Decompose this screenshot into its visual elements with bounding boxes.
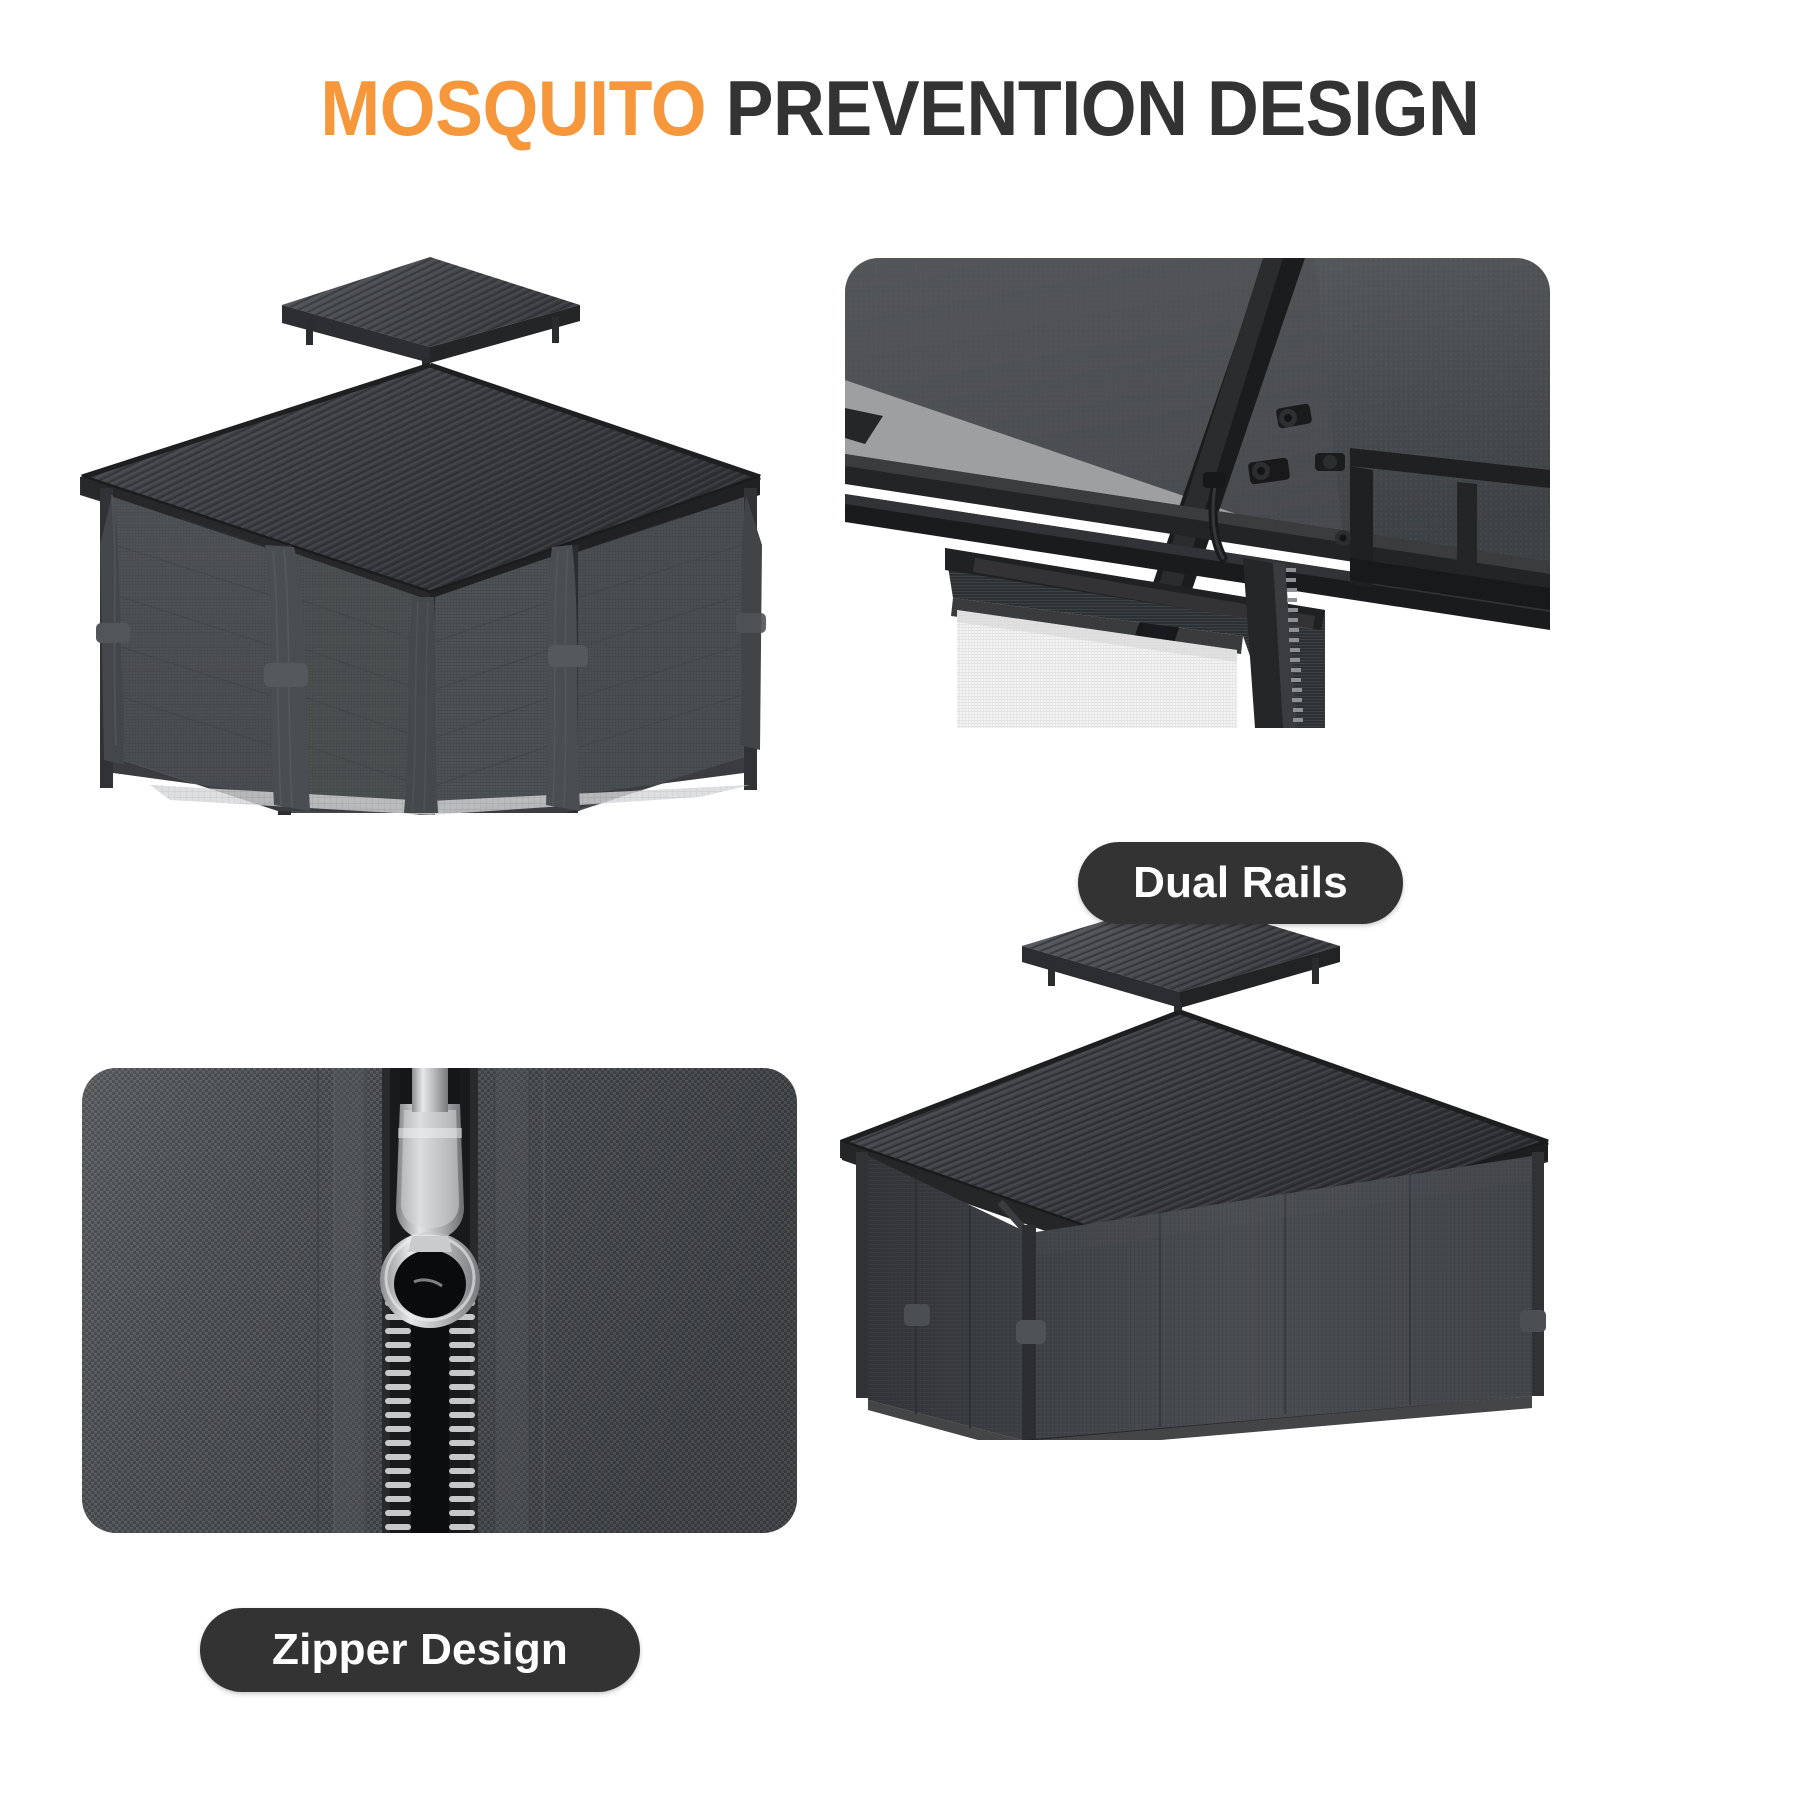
gazebo-mesh-illustration xyxy=(60,245,800,815)
dual-rails-illustration xyxy=(845,258,1550,728)
badge-dual-rails: Dual Rails xyxy=(1078,842,1403,924)
zipper-illustration xyxy=(82,1068,797,1533)
gazebo-solid-photo xyxy=(830,880,1560,1440)
product-image-dual-rails xyxy=(845,258,1550,728)
product-image-zipper xyxy=(82,1068,797,1533)
gazebo-solid-illustration xyxy=(830,880,1560,1440)
zipper-pull-tab xyxy=(380,1232,480,1328)
page-header: MOSQUITO PREVENTION DESIGN xyxy=(0,0,1800,215)
page-title-accent: MOSQUITO xyxy=(321,64,707,152)
product-image-gazebo-mesh xyxy=(60,245,800,815)
zipper-photo xyxy=(82,1068,797,1533)
gazebo-mesh-photo xyxy=(60,245,800,815)
badge-zipper-design: Zipper Design xyxy=(200,1608,640,1692)
page-title-rest: PREVENTION DESIGN xyxy=(706,64,1479,152)
product-image-gazebo-solid xyxy=(830,880,1560,1440)
page-title: MOSQUITO PREVENTION DESIGN xyxy=(321,69,1480,147)
dual-rails-photo xyxy=(845,258,1550,728)
